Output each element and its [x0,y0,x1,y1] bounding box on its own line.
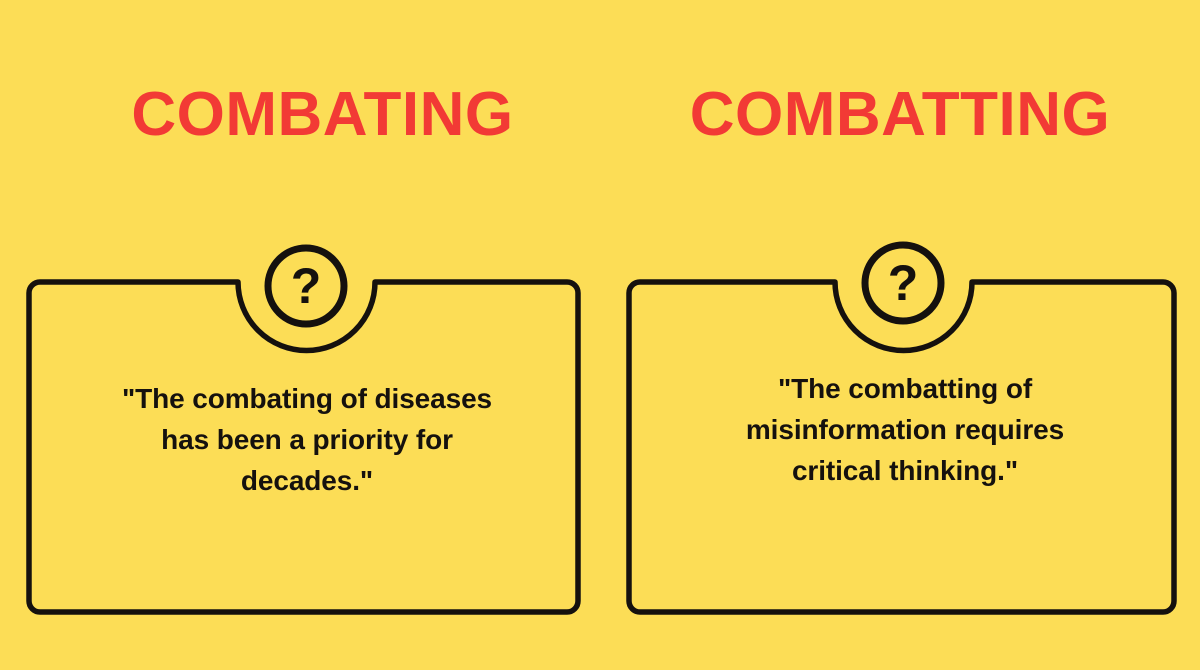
question-mark-glyph: ? [888,255,919,311]
card-combating: ? "The combating of diseases has been a … [24,228,590,620]
heading-combating: COMBATING [30,76,615,154]
heading-combatting: COMBATTING [620,76,1180,154]
card-combatting: ? "The combatting of misinformation requ… [624,224,1186,620]
comparison-graphic: COMBATING COMBATTING ? "The combating of… [0,0,1200,670]
quote-text-combating: "The combating of diseases has been a pr… [24,378,590,501]
question-mark-glyph: ? [291,258,322,314]
quote-text-combatting: "The combatting of misinformation requir… [624,368,1186,491]
